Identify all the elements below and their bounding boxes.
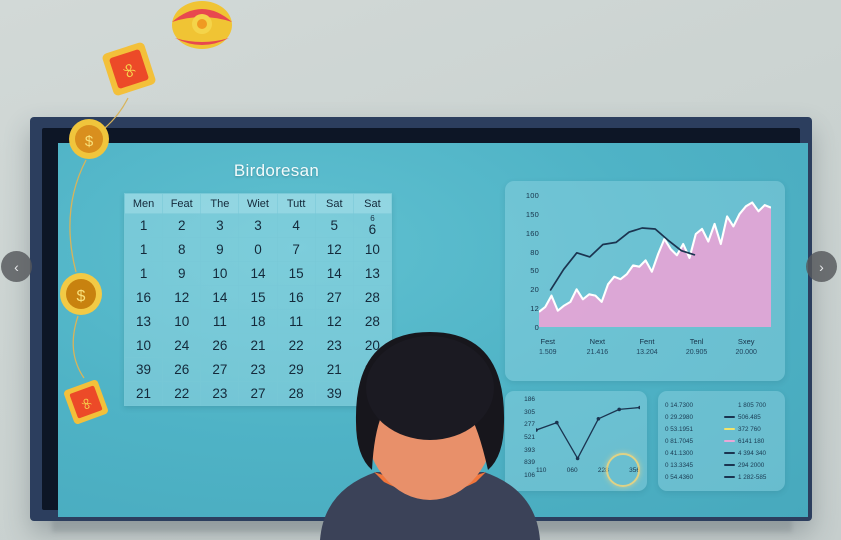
coin-glyph: $	[77, 288, 86, 305]
ball-dot	[197, 19, 207, 29]
kite-token-bottom-svg: ୫	[62, 378, 110, 426]
calendar-day-cell[interactable]: 3	[201, 214, 239, 238]
mini-chart-point	[638, 406, 640, 410]
calendar-header-cell: The	[201, 194, 239, 214]
legend-value: 1 282-585	[738, 474, 766, 481]
calendar-day-cell[interactable]: 27	[315, 286, 353, 310]
calendar-title: Birdoresan	[144, 161, 409, 181]
coin-token-mid-svg: $	[59, 272, 103, 316]
calendar-day-cell[interactable]: 10	[125, 334, 163, 358]
calendar-row: 16121415162728	[125, 286, 392, 310]
chevron-right-icon: ›	[819, 259, 824, 275]
legend-row: 1 282-585	[724, 471, 778, 483]
calendar-header-cell: Sat	[353, 194, 391, 214]
legend-value: 6141 180	[738, 438, 764, 445]
carousel-prev-button[interactable]: ‹	[1, 251, 32, 282]
calendar-day-superscript: 6	[354, 215, 391, 222]
calendar-day-cell[interactable]: 13	[353, 262, 391, 286]
calendar-day-cell[interactable]: 21	[125, 382, 163, 406]
calendar-day-cell[interactable]: 15	[277, 262, 315, 286]
legend-row: 0 54.4360	[665, 471, 719, 483]
calendar-day-cell[interactable]: 39	[125, 358, 163, 382]
calendar-day-cell[interactable]: 28	[353, 286, 391, 310]
calendar-day-cell[interactable]: 26	[201, 334, 239, 358]
legend-row: 0 14.7300	[665, 399, 719, 411]
x-tick-value: 20.905	[672, 349, 722, 356]
area-chart-y-axis: 100150160805020120	[513, 195, 539, 327]
legend-swatch-icon	[724, 404, 735, 406]
legend-row: 294 2000	[724, 459, 778, 471]
legend-value: 506.485	[738, 414, 761, 421]
calendar-day-cell[interactable]: 8	[163, 238, 201, 262]
area-chart-svg	[539, 195, 771, 327]
legend-swatch-icon	[724, 440, 735, 442]
calendar-header-cell: Tutt	[277, 194, 315, 214]
legend-swatch-icon	[724, 452, 735, 454]
area-chart-y-tick: 160	[526, 229, 539, 238]
legend-value: 0 13.3345	[665, 462, 693, 469]
area-chart-plot	[539, 195, 771, 327]
legend-value: 4 394 340	[738, 450, 766, 457]
x-tick-value: 20.000	[721, 349, 771, 356]
coin-glyph: $	[85, 133, 94, 150]
area-chart-x-tick: Tenl20.905	[672, 337, 722, 371]
calendar-day-cell[interactable]: 4	[277, 214, 315, 238]
area-chart-y-tick: 50	[530, 266, 539, 275]
calendar-day-cell[interactable]: 24	[163, 334, 201, 358]
area-chart-y-tick: 100	[526, 191, 539, 200]
legend-row: 0 41.1300	[665, 447, 719, 459]
legend-value: 0 53.1951	[665, 426, 693, 433]
calendar-row: 189071210	[125, 238, 392, 262]
coin-token-top: $	[68, 118, 110, 160]
person-hair-top	[366, 336, 494, 440]
area-chart-y-tick: 80	[530, 248, 539, 257]
x-tick-name: Fent	[622, 337, 672, 346]
calendar-day-cell[interactable]: 10	[353, 238, 391, 262]
calendar-day-cell[interactable]: 14	[201, 286, 239, 310]
legend-value: 0 41.1300	[665, 450, 693, 457]
legend-row: 1 805 700	[724, 399, 778, 411]
area-chart-x-tick: Next21.416	[573, 337, 623, 371]
ball-token-svg	[171, 0, 233, 50]
highlight-ring-icon	[606, 453, 640, 487]
area-chart-x-axis: Fest1.509Next21.416Fent13.204Tenl20.905S…	[523, 337, 771, 371]
scene-root: Birdoresan Men Feat The Wiet Tutt Sat Sa…	[0, 0, 841, 540]
area-chart-y-tick: 150	[526, 210, 539, 219]
legend-columns: 0 14.73000 29.29800 53.19510 81.70450 41…	[665, 399, 778, 483]
legend-value: 0 14.7300	[665, 402, 693, 409]
calendar-day-cell[interactable]: 23	[201, 382, 239, 406]
x-tick-name: Sxey	[721, 337, 771, 346]
mini-chart-point	[597, 417, 601, 421]
calendar-day-cell[interactable]: 15	[239, 286, 277, 310]
legend-value: 0 54.4360	[665, 474, 693, 481]
calendar-day-cell[interactable]: 12	[163, 286, 201, 310]
calendar-day-cell[interactable]: 27	[239, 382, 277, 406]
calendar-day-cell[interactable]: 1	[125, 238, 163, 262]
calendar-day-cell[interactable]: 7	[277, 238, 315, 262]
coin-token-mid: $	[59, 272, 103, 316]
calendar-day-cell[interactable]: 18	[239, 310, 277, 334]
mini-chart-point	[617, 408, 621, 412]
legend-panel: 0 14.73000 29.29800 53.19510 81.70450 41…	[658, 391, 785, 491]
area-chart-x-tick: Fent13.204	[622, 337, 672, 371]
calendar-day-cell[interactable]: 3	[239, 214, 277, 238]
area-chart-x-tick: Sxey20.000	[721, 337, 771, 371]
calendar-day-cell[interactable]: 0	[239, 238, 277, 262]
legend-value: 372 760	[738, 426, 761, 433]
mini-chart-point	[576, 457, 580, 461]
legend-value: 294 2000	[738, 462, 764, 469]
x-tick-value: 13.204	[622, 349, 672, 356]
calendar-day-cell[interactable]: 16	[125, 286, 163, 310]
carousel-next-button[interactable]: ›	[806, 251, 837, 282]
calendar-day-cell[interactable]: 9	[163, 262, 201, 286]
calendar-day-cell[interactable]: 26	[163, 358, 201, 382]
legend-row: 0 13.3345	[665, 459, 719, 471]
kite-token-top-svg: ୫	[98, 38, 160, 100]
x-tick-name: Next	[573, 337, 623, 346]
legend-row: 0 53.1951	[665, 423, 719, 435]
legend-row: 506.485	[724, 411, 778, 423]
calendar-day-cell[interactable]: 13	[125, 310, 163, 334]
calendar-header-cell: Wiet	[239, 194, 277, 214]
calendar-day-cell[interactable]: 9	[201, 238, 239, 262]
calendar-header-row: Men Feat The Wiet Tutt Sat Sat	[125, 194, 392, 214]
viewer-person	[300, 330, 560, 540]
calendar-header-cell: Men	[125, 194, 163, 214]
legend-row: 0 81.7045	[665, 435, 719, 447]
mini-chart-x-tick: 060	[567, 467, 578, 481]
calendar-day-cell[interactable]: 1	[125, 262, 163, 286]
kite-token-top: ୫	[98, 38, 160, 100]
coin-token-top-svg: $	[68, 118, 110, 160]
legend-row: 372 760	[724, 423, 778, 435]
calendar-day-cell[interactable]: 10	[163, 310, 201, 334]
ball-token	[171, 0, 233, 50]
calendar-day-cell[interactable]: 23	[239, 358, 277, 382]
calendar-day-cell[interactable]: 22	[163, 382, 201, 406]
calendar-day-cell[interactable]: 16	[277, 286, 315, 310]
legend-left-column: 0 14.73000 29.29800 53.19510 81.70450 41…	[665, 399, 719, 483]
calendar-row: 12334566	[125, 214, 392, 238]
x-tick-name: Tenl	[672, 337, 722, 346]
area-chart-y-tick: 12	[530, 304, 539, 313]
legend-row: 6141 180	[724, 435, 778, 447]
legend-right-column: 1 805 700506.485372 7606141 1804 394 340…	[724, 399, 778, 483]
calendar-day-cell[interactable]: 14	[239, 262, 277, 286]
chevron-left-icon: ‹	[14, 259, 19, 275]
legend-swatch-icon	[724, 428, 735, 430]
legend-row: 0 29.2980	[665, 411, 719, 423]
calendar-day-cell[interactable]: 27	[201, 358, 239, 382]
person-svg	[300, 330, 560, 540]
calendar-header-cell: Sat	[315, 194, 353, 214]
legend-swatch-icon	[724, 416, 735, 418]
calendar-day-cell[interactable]: 10	[201, 262, 239, 286]
calendar-day-cell[interactable]: 5	[315, 214, 353, 238]
kite-token-bottom: ୫	[62, 378, 110, 426]
calendar-row: 191014151413	[125, 262, 392, 286]
x-tick-value: 21.416	[573, 349, 623, 356]
calendar-day-cell[interactable]: 14	[315, 262, 353, 286]
calendar-header-cell: Feat	[163, 194, 201, 214]
calendar-day-cell[interactable]: 21	[239, 334, 277, 358]
legend-swatch-icon	[724, 464, 735, 466]
calendar-day-cell[interactable]: 2	[163, 214, 201, 238]
legend-value: 1 805 700	[738, 402, 766, 409]
calendar-day-cell[interactable]: 11	[201, 310, 239, 334]
calendar-day-cell[interactable]: 66	[353, 214, 391, 238]
legend-value: 0 29.2980	[665, 414, 693, 421]
area-chart-y-tick: 20	[530, 285, 539, 294]
calendar-day-cell[interactable]: 12	[315, 238, 353, 262]
calendar-day-cell[interactable]: 1	[125, 214, 163, 238]
legend-row: 4 394 340	[724, 447, 778, 459]
legend-swatch-icon	[724, 476, 735, 478]
legend-value: 0 81.7045	[665, 438, 693, 445]
